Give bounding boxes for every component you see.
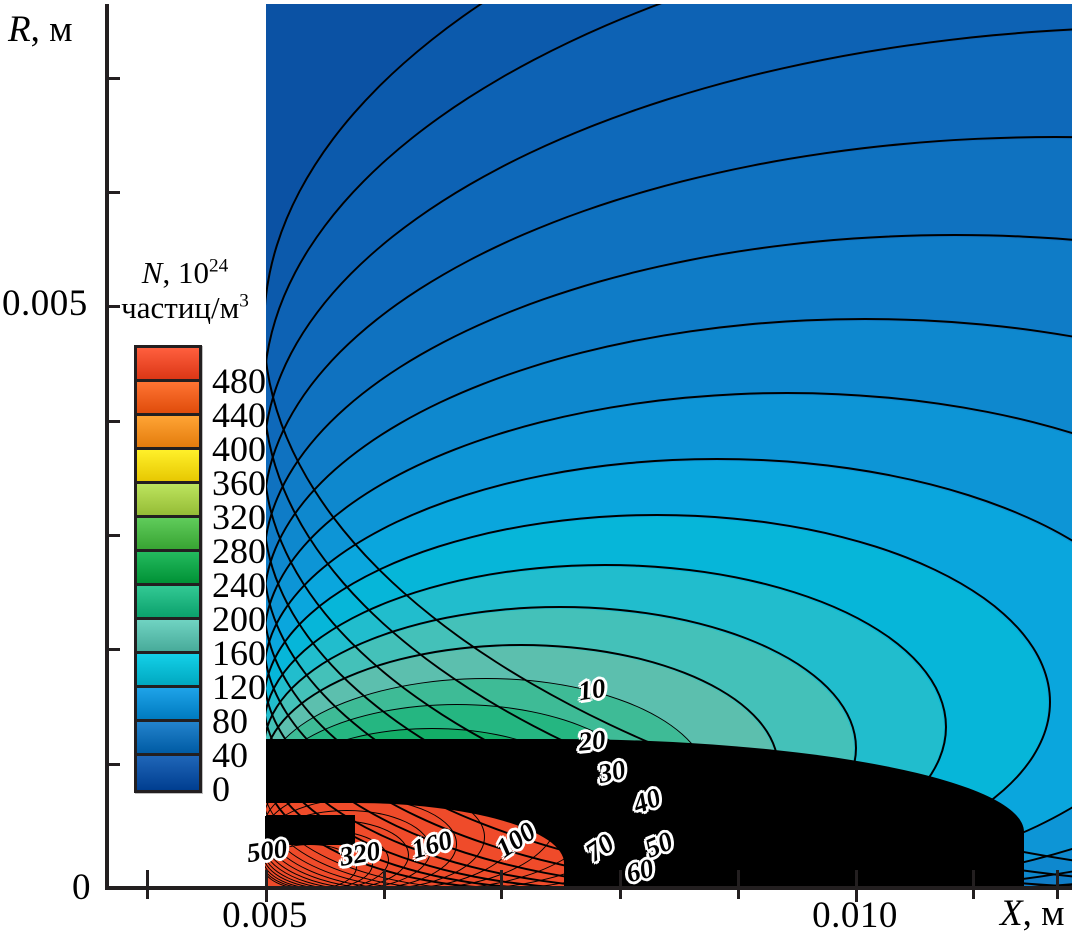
x-axis-tick-inner	[1056, 870, 1059, 886]
y-axis-tick	[105, 534, 120, 537]
x-axis-tick-inner	[146, 870, 149, 886]
x-axis-line	[105, 886, 1072, 890]
contour-figure: 0.0050.01000.005 R, м X, м N, 1024 части…	[0, 0, 1078, 942]
y-axis-title: R, м	[8, 8, 73, 51]
contour-field	[265, 4, 1072, 888]
colorbar-tick-label: 80	[212, 703, 248, 739]
colorbar-tick-labels: 48044040036032028024020016012080400	[212, 345, 332, 787]
colorbar-segment	[137, 416, 199, 450]
colorbar-segment	[137, 552, 199, 586]
x-axis-tick	[619, 886, 622, 899]
colorbar-segment	[137, 450, 199, 484]
axis-tick-label: 0.010	[812, 894, 898, 937]
colorbar-segment	[137, 586, 199, 620]
x-axis-tick-inner	[737, 870, 740, 886]
y-axis-tick	[105, 420, 120, 423]
colorbar-segment	[137, 382, 199, 416]
colorbar-body: 48044040036032028024020016012080400	[134, 345, 332, 793]
x-axis-tick	[146, 886, 149, 899]
colorbar-segment	[137, 688, 199, 722]
colorbar-tick-label: 280	[212, 533, 266, 569]
colorbar-tick-label: 320	[212, 499, 266, 535]
colorbar-segment	[137, 654, 199, 688]
colorbar-tick-label: 400	[212, 431, 266, 467]
x-axis-tick	[383, 886, 386, 899]
colorbar-swatches	[134, 345, 202, 793]
colorbar-tick-label: 240	[212, 567, 266, 603]
y-axis-symbol: R	[8, 9, 31, 50]
y-axis-unit: , м	[31, 9, 73, 50]
x-axis-tick	[972, 886, 975, 899]
colorbar-tick-label: 0	[212, 771, 230, 807]
colorbar-segment	[137, 722, 199, 756]
colorbar-segment	[137, 620, 199, 654]
colorbar-tick-label: 120	[212, 669, 266, 705]
colorbar-segment	[137, 484, 199, 518]
colorbar-title: N, 1024 частиц/м3	[108, 255, 262, 326]
colorbar-units: частиц/м	[121, 290, 239, 325]
x-axis-title: X, м	[1000, 892, 1065, 935]
y-axis-tick	[105, 77, 120, 80]
y-axis-tick	[105, 763, 120, 766]
colorbar-tick-label: 160	[212, 635, 266, 671]
axis-tick-label: 0	[72, 866, 91, 909]
x-axis-tick	[500, 886, 503, 899]
y-axis-tick	[105, 648, 120, 651]
contour-label: 10	[576, 673, 607, 707]
x-axis-tick-inner	[383, 870, 386, 886]
x-axis-tick-inner	[500, 870, 503, 886]
colorbar-exponent: 24	[209, 256, 228, 277]
x-axis-tick-inner	[265, 870, 268, 886]
x-axis-tick-inner	[972, 870, 975, 886]
colorbar-segment	[137, 756, 199, 790]
contour-label: 20	[577, 724, 607, 758]
colorbar-legend: N, 1024 частиц/м3 4804404003603202802402…	[112, 255, 262, 326]
colorbar-tick-label: 360	[212, 465, 266, 501]
x-axis-tick	[737, 886, 740, 899]
colorbar-tick-label: 40	[212, 737, 248, 773]
contour-label: 500	[245, 833, 289, 869]
colorbar-segment	[137, 348, 199, 382]
colorbar-title-rest: , 10	[162, 255, 209, 290]
x-axis-symbol: X	[1000, 893, 1023, 934]
colorbar-segment	[137, 518, 199, 552]
axis-tick-label: 0.005	[2, 282, 88, 325]
x-axis-unit: , м	[1023, 893, 1065, 934]
x-axis-tick-inner	[619, 870, 622, 886]
axis-tick-label: 0.005	[222, 894, 308, 937]
colorbar-tick-label: 480	[212, 363, 266, 399]
colorbar-symbol: N	[142, 255, 163, 290]
colorbar-tick-label: 200	[212, 601, 266, 637]
x-axis-tick-inner	[855, 870, 858, 886]
y-axis-tick	[105, 191, 120, 194]
colorbar-units-exponent: 3	[239, 291, 249, 312]
y-axis-line	[105, 4, 109, 890]
colorbar-tick-label: 440	[212, 397, 266, 433]
